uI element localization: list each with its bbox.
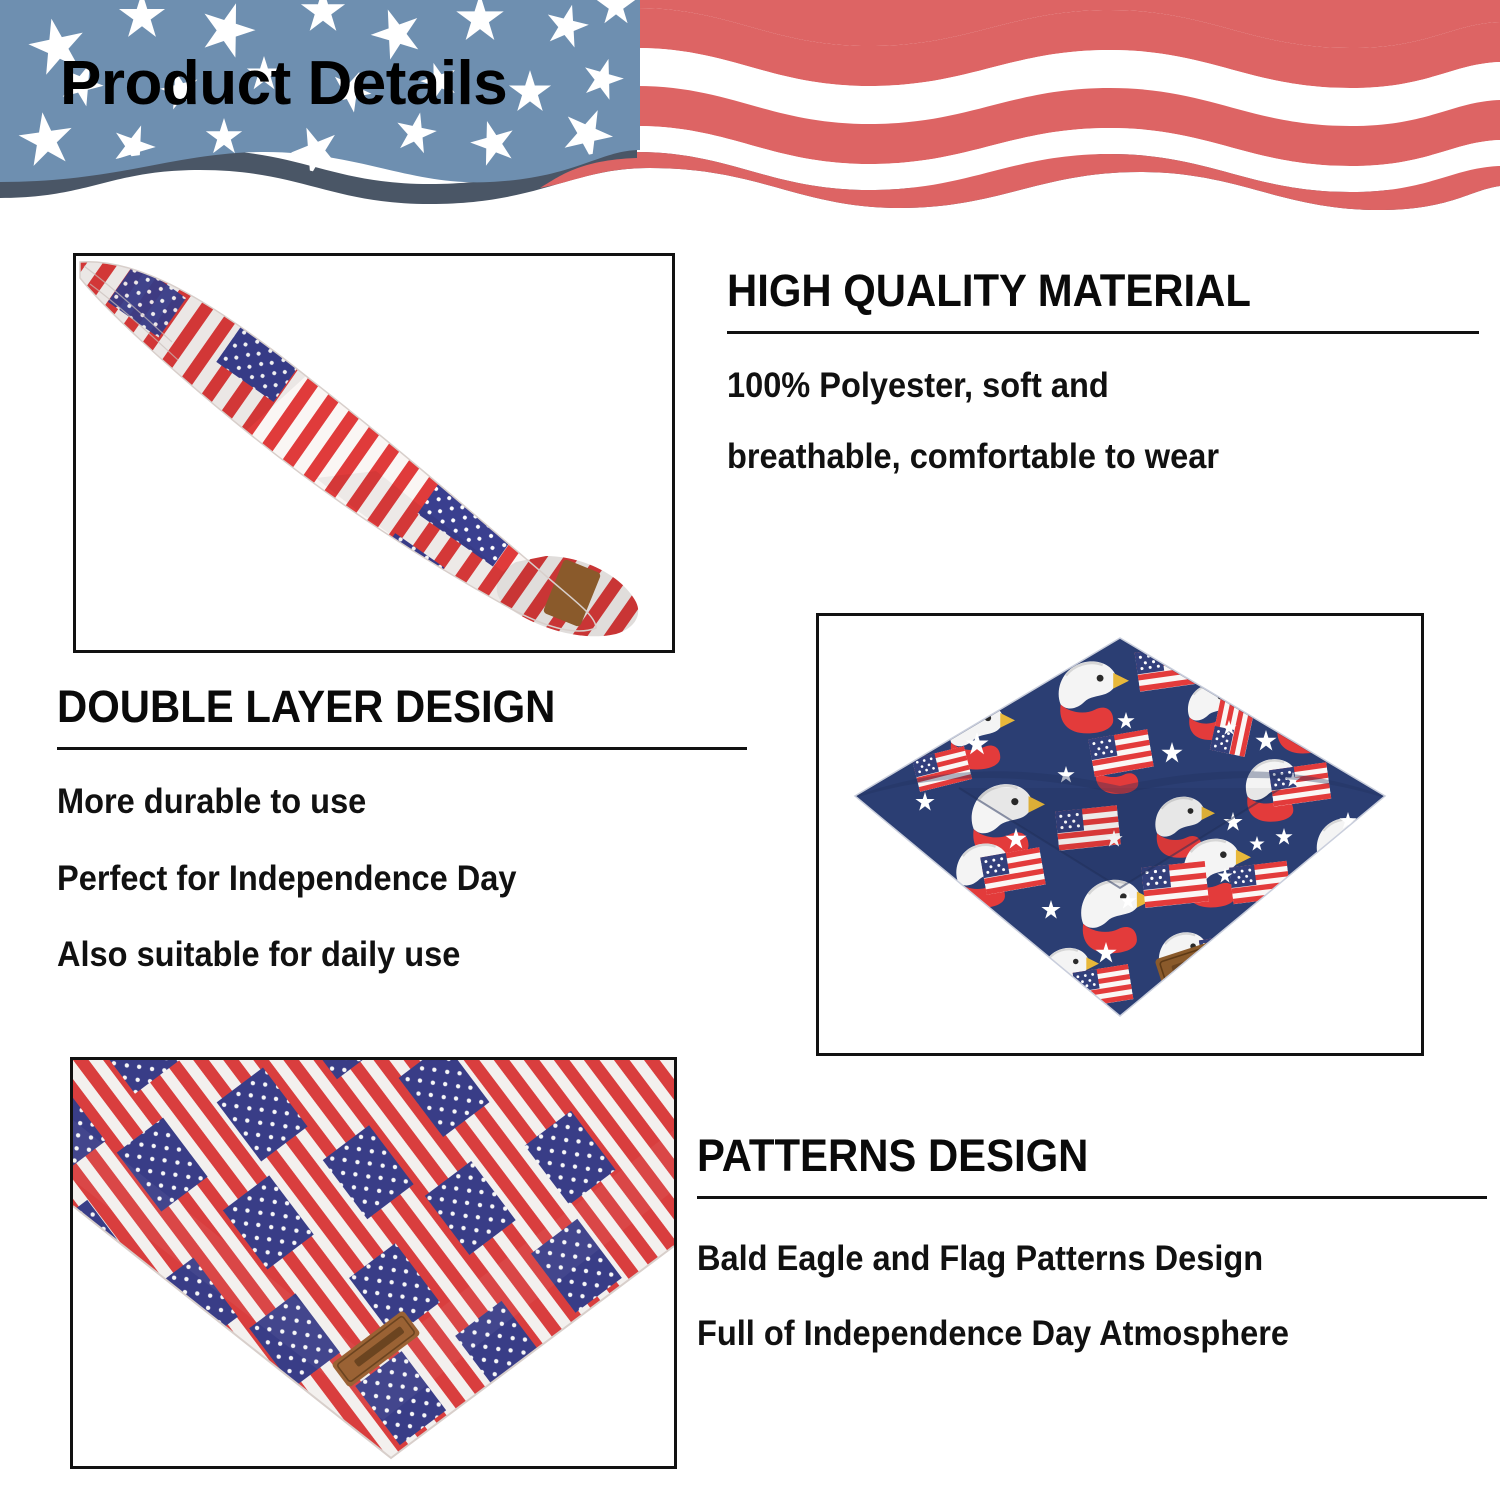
eagle-bandana-photo [816, 613, 1424, 1056]
feature-heading-double-layer: DOUBLE LAYER DESIGN [57, 684, 708, 730]
feature-line: 100% Polyester, soft and [727, 368, 1434, 405]
feature-heading-patterns: PATTERNS DESIGN [697, 1133, 1436, 1179]
feature-line: Bald Eagle and Flag Patterns Design [697, 1241, 1436, 1278]
feature-heading-material: HIGH QUALITY MATERIAL [727, 268, 1434, 314]
heading-divider [697, 1196, 1487, 1199]
feature-lines-double-layer: More durable to use Perfect for Independ… [57, 784, 757, 974]
flat-flag-bandana-photo [70, 1057, 677, 1469]
heading-divider [57, 747, 747, 750]
feature-line: Also suitable for daily use [57, 937, 708, 974]
heading-divider [727, 331, 1479, 334]
product-details-page: Product Details [0, 0, 1500, 1487]
rolled-flag-bandana-photo [73, 253, 675, 653]
feature-line: Full of Independence Day Atmosphere [697, 1316, 1436, 1353]
page-title: Product Details [60, 48, 507, 119]
feature-line: More durable to use [57, 784, 708, 821]
feature-line: Perfect for Independence Day [57, 861, 708, 898]
feature-lines-patterns: Bald Eagle and Flag Patterns Design Full… [697, 1241, 1492, 1353]
flag-stripes [540, 0, 1500, 210]
feature-block-material: HIGH QUALITY MATERIAL 100% Polyester, so… [727, 268, 1487, 475]
flag-header-banner: Product Details [0, 0, 1500, 215]
feature-line: breathable, comfortable to wear [727, 439, 1434, 476]
feature-block-double-layer: DOUBLE LAYER DESIGN More durable to use … [57, 684, 757, 1014]
feature-block-patterns: PATTERNS DESIGN Bald Eagle and Flag Patt… [697, 1133, 1492, 1390]
feature-lines-material: 100% Polyester, soft and breathable, com… [727, 368, 1487, 476]
